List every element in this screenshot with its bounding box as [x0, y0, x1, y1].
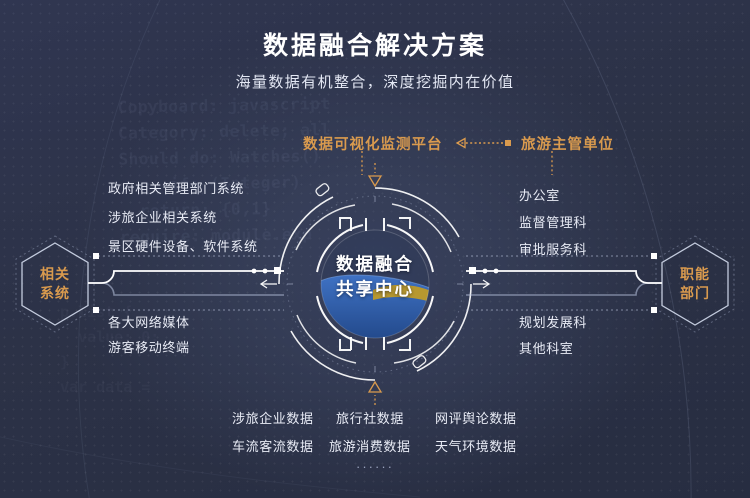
label-stem-right-icon — [545, 151, 559, 177]
center-line-1: 数据融合 — [336, 254, 414, 274]
label-tourism-authority: 旅游主管单位 — [521, 133, 614, 154]
list-item: 政府相关管理部门系统 — [108, 178, 244, 197]
page-subtitle: 海量数据有机整合，深度挖掘内在价值 — [0, 71, 750, 92]
center-hub-label: 数据融合 共享中心 — [0, 252, 750, 302]
list-item: 规划发展科 — [519, 312, 587, 331]
infographic-canvas: Copyboard: javascript Category: delete; … — [0, 0, 750, 498]
label-visualization-platform: 数据可视化监测平台 — [303, 133, 443, 154]
page-title: 数据融合解决方案 — [0, 26, 750, 62]
data-label-more: ······ — [0, 459, 750, 474]
list-item: 其他科室 — [519, 338, 573, 357]
data-label: 天气环境数据 — [435, 436, 517, 455]
data-label: 涉旅企业数据 — [232, 408, 314, 427]
list-item: 监督管理科 — [519, 212, 587, 231]
data-label: 旅行社数据 — [336, 408, 404, 427]
data-label: 网评舆论数据 — [435, 408, 517, 427]
list-item: 游客移动终端 — [108, 337, 190, 356]
center-line-2: 共享中心 — [336, 279, 414, 299]
list-item: 涉旅企业相关系统 — [108, 207, 217, 226]
list-item: 办公室 — [519, 185, 560, 204]
data-label: 旅游消费数据 — [329, 436, 411, 455]
dotted-arrow-left-icon — [447, 135, 515, 151]
list-item: 各大网络媒体 — [108, 312, 190, 331]
data-label: 车流客流数据 — [232, 436, 314, 455]
